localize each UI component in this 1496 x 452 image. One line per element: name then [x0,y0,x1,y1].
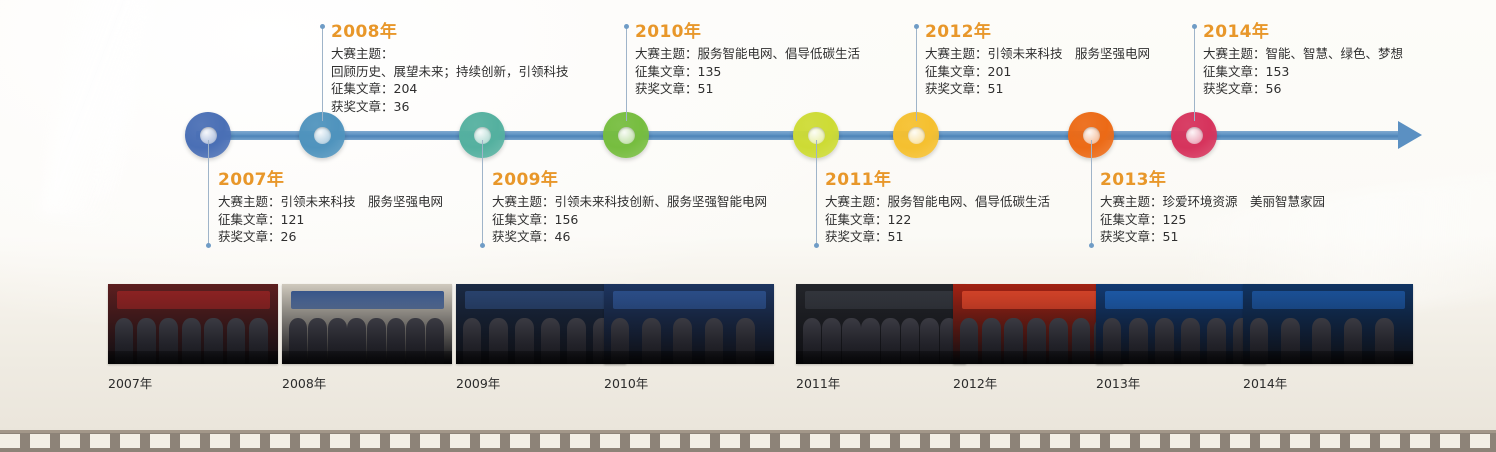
photo-gallery: 2007年2008年2009年2010年2011年2012年2013年2014年 [0,284,1496,394]
entry-theme: 大赛主题：服务智能电网、倡导低碳生活 [825,193,1050,211]
photo-caption: 2007年 [108,373,278,392]
entry-theme: 大赛主题：引领未来科技创新、服务坚强智能电网 [492,193,767,211]
entry-awarded-count: 获奖文章：36 [331,98,569,116]
entry-submitted-count: 征集文章：135 [635,63,860,81]
photo-thumbnail [282,284,452,364]
entry-year: 2012年 [925,22,1150,43]
photo-banner [1252,291,1405,309]
photo-thumbnail [1243,284,1413,364]
gallery-photo[interactable]: 2009年 [456,284,626,392]
timeline-stem [482,140,483,246]
timeline-stem [1194,26,1195,121]
timeline-stem [626,26,627,121]
filmstrip-edge [0,430,1496,433]
timeline-stem-dot [320,24,325,29]
entry-theme: 大赛主题： [331,45,569,63]
entry-awarded-count: 获奖文章：56 [1203,80,1403,98]
entry-awarded-count: 获奖文章：26 [218,228,443,246]
filmstrip-border [0,430,1496,452]
timeline-stem [1091,140,1092,246]
timeline-stem-dot [206,243,211,248]
photo-thumbnail [796,284,966,364]
entry-awarded-count: 获奖文章：51 [825,228,1050,246]
timeline-stem [208,140,209,246]
photo-foreground [796,351,966,364]
entry-theme: 大赛主题：引领未来科技 服务坚强电网 [925,45,1150,63]
timeline-arrow-icon [1398,121,1422,149]
entry-theme: 大赛主题：引领未来科技 服务坚强电网 [218,193,443,211]
photo-foreground [456,351,626,364]
entry-submitted-count: 征集文章：122 [825,211,1050,229]
entry-theme: 大赛主题：智能、智慧、绿色、梦想 [1203,45,1403,63]
entry-year: 2014年 [1203,22,1403,43]
timeline-stem [916,26,917,121]
entry-submitted-count: 征集文章：204 [331,80,569,98]
entry-awarded-count: 获奖文章：51 [1100,228,1325,246]
photo-caption: 2013年 [1096,373,1266,392]
entry-year: 2010年 [635,22,860,43]
entry-year: 2007年 [218,170,443,191]
timeline-entry-card[interactable]: 2014年大赛主题：智能、智慧、绿色、梦想征集文章：153获奖文章：56 [1203,22,1403,98]
entry-theme: 大赛主题：服务智能电网、倡导低碳生活 [635,45,860,63]
photo-caption: 2014年 [1243,373,1413,392]
entry-submitted-count: 征集文章：121 [218,211,443,229]
photo-foreground [1096,351,1266,364]
photo-thumbnail [108,284,278,364]
timeline-stem-dot [814,243,819,248]
photo-banner [962,291,1115,309]
photo-banner [291,291,444,309]
entry-theme-cont: 回顾历史、展望未来；持续创新，引领科技 [331,63,569,81]
timeline-entry-card[interactable]: 2009年大赛主题：引领未来科技创新、服务坚强智能电网征集文章：156获奖文章：… [492,170,767,246]
photo-foreground [1243,351,1413,364]
photo-caption: 2009年 [456,373,626,392]
entry-year: 2008年 [331,22,569,43]
timeline: 2007年大赛主题：引领未来科技 服务坚强电网征集文章：121获奖文章：2620… [0,0,1496,270]
entry-submitted-count: 征集文章：201 [925,63,1150,81]
entry-theme: 大赛主题：珍爱环境资源 美丽智慧家园 [1100,193,1325,211]
timeline-entry-card[interactable]: 2013年大赛主题：珍爱环境资源 美丽智慧家园征集文章：125获奖文章：51 [1100,170,1325,246]
gallery-photo[interactable]: 2010年 [604,284,774,392]
entry-awarded-count: 获奖文章：46 [492,228,767,246]
timeline-entry-card[interactable]: 2012年大赛主题：引领未来科技 服务坚强电网征集文章：201获奖文章：51 [925,22,1150,98]
entry-year: 2013年 [1100,170,1325,191]
photo-foreground [604,351,774,364]
gallery-photo[interactable]: 2011年 [796,284,966,392]
photo-banner [465,291,618,309]
photo-thumbnail [604,284,774,364]
timeline-entry-card[interactable]: 2011年大赛主题：服务智能电网、倡导低碳生活征集文章：122获奖文章：51 [825,170,1050,246]
photo-foreground [108,351,278,364]
photo-thumbnail [1096,284,1266,364]
entry-year: 2009年 [492,170,767,191]
entry-year: 2011年 [825,170,1050,191]
photo-banner [613,291,766,309]
timeline-stem [322,26,323,121]
timeline-entry-card[interactable]: 2010年大赛主题：服务智能电网、倡导低碳生活征集文章：135获奖文章：51 [635,22,860,98]
entry-submitted-count: 征集文章：125 [1100,211,1325,229]
photo-banner [1105,291,1258,309]
entry-awarded-count: 获奖文章：51 [635,80,860,98]
gallery-photo[interactable]: 2014年 [1243,284,1413,392]
photo-caption: 2011年 [796,373,966,392]
entry-submitted-count: 征集文章：153 [1203,63,1403,81]
photo-banner [805,291,958,309]
infographic-canvas: 2007年大赛主题：引领未来科技 服务坚强电网征集文章：121获奖文章：2620… [0,0,1496,452]
gallery-photo[interactable]: 2008年 [282,284,452,392]
photo-caption: 2008年 [282,373,452,392]
entry-submitted-count: 征集文章：156 [492,211,767,229]
entry-awarded-count: 获奖文章：51 [925,80,1150,98]
timeline-stem-dot [1192,24,1197,29]
gallery-photo[interactable]: 2013年 [1096,284,1266,392]
filmstrip-perforations [0,434,1496,448]
timeline-stem-dot [624,24,629,29]
timeline-stem-dot [480,243,485,248]
photo-caption: 2010年 [604,373,774,392]
timeline-stem-dot [914,24,919,29]
photo-thumbnail [456,284,626,364]
gallery-photo[interactable]: 2007年 [108,284,278,392]
timeline-stem [816,140,817,246]
timeline-entry-card[interactable]: 2008年大赛主题：回顾历史、展望未来；持续创新，引领科技征集文章：204获奖文… [331,22,569,115]
photo-banner [117,291,270,309]
photo-foreground [282,351,452,364]
timeline-entry-card[interactable]: 2007年大赛主题：引领未来科技 服务坚强电网征集文章：121获奖文章：26 [218,170,443,246]
timeline-stem-dot [1089,243,1094,248]
